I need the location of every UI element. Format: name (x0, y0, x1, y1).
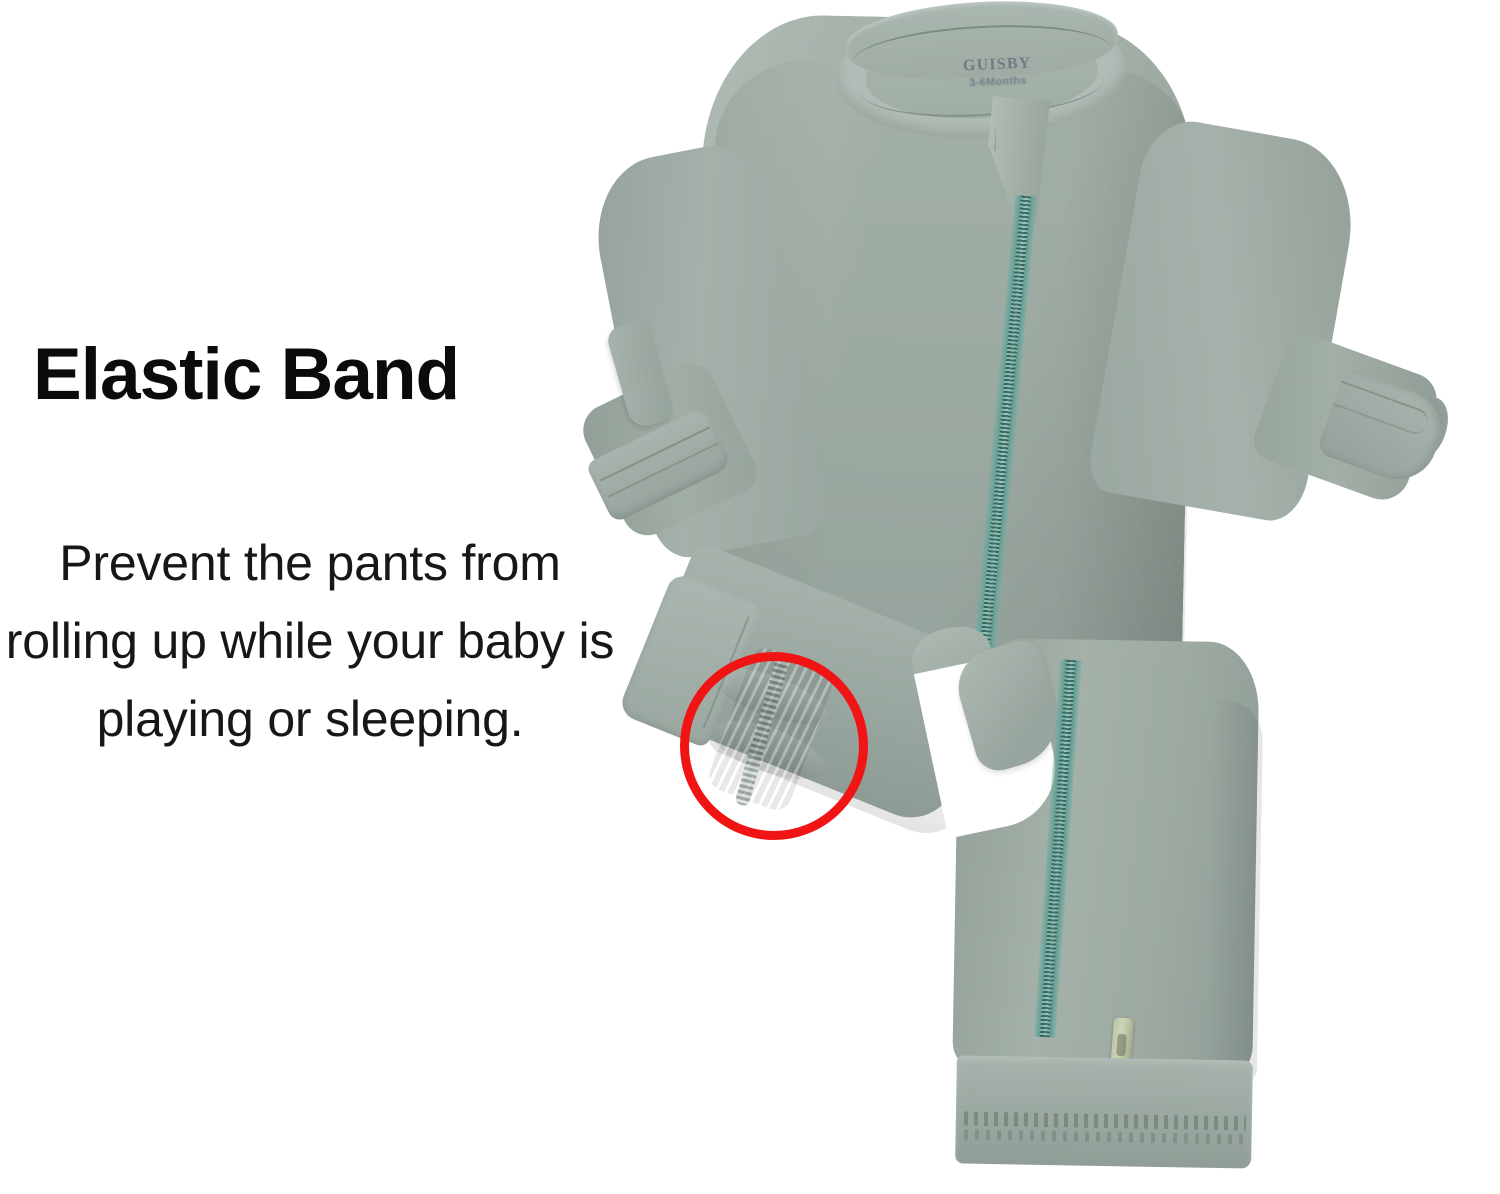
product-feature-image: GUISBY 3-6Months (0, 0, 1500, 1194)
product-photo: GUISBY 3-6Months (560, 0, 1500, 1194)
feature-description: Prevent the pants from rolling up while … (0, 524, 620, 758)
page-title: Elastic Band (33, 338, 593, 412)
red-highlight-circle (680, 652, 868, 840)
text-panel: Elastic Band Prevent the pants from roll… (0, 0, 620, 1194)
leg-right-shadow (1205, 700, 1264, 1081)
zipper-pull-slot (1116, 1034, 1127, 1057)
